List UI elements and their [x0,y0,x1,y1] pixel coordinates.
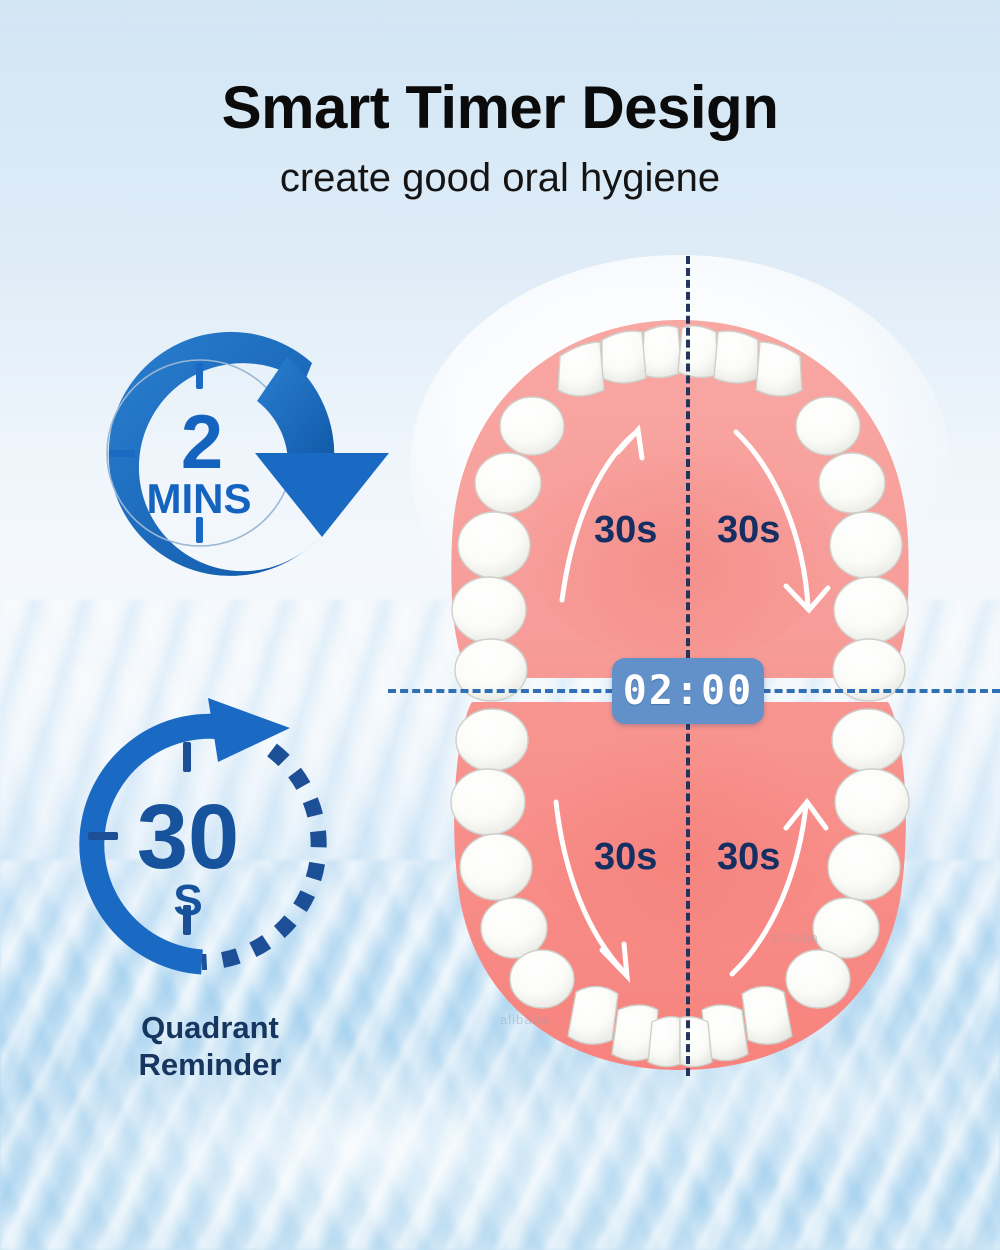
tooth-lower-left-molar-3 [456,709,528,771]
tooth-lower-right-molar-3 [832,709,904,771]
thirty-second-clock-icon: 30 S [40,690,380,1020]
tooth-lower-right-premolar-1 [786,950,850,1008]
clock-tick-9 [109,450,135,457]
tooth-upper-right-premolar-1 [796,397,860,455]
page-title: Smart Timer Design [0,78,1000,138]
quadrant-tick-9 [88,832,118,840]
tooth-lower-right-canine [742,986,792,1044]
infographic-canvas: Smart Timer Design create good oral hygi… [0,0,1000,1250]
tooth-lower-right-molar-1 [828,834,900,900]
thirty-s-value: 30 [137,786,239,888]
tooth-upper-left-molar-1 [458,512,530,578]
clock-tick-12 [196,363,203,389]
quadrant-label-upper-left: 30s [594,511,657,549]
clock-arrow-shaft [257,357,334,465]
upper-palate-shading [530,435,830,665]
timer-value: 02:00 [623,668,753,714]
two-mins-unit: MINS [147,475,252,522]
tooth-upper-left-lateral-incisor [602,331,646,383]
quadrant-label-lower-right: 30s [717,838,780,876]
quadrant-caption-line2: Reminder [30,1047,390,1084]
lower-tongue-shading [530,730,830,950]
watermark-text-1: alibaba [500,1012,549,1027]
tooth-lower-left-premolar-2 [481,898,547,958]
quadrant-tick-12 [183,742,191,772]
tooth-upper-right-central-incisor [678,326,718,378]
tooth-upper-left-molar-2 [452,577,526,643]
timer-display-badge: 02:00 [612,658,764,724]
tooth-lower-left-molar-1 [460,834,532,900]
tooth-upper-right-molar-2 [834,577,908,643]
tooth-upper-right-premolar-2 [819,453,885,513]
tooth-lower-left-premolar-1 [510,950,574,1008]
tooth-upper-right-molar-1 [830,512,902,578]
quadrant-label-upper-right: 30s [717,511,780,549]
tooth-upper-right-lateral-incisor [714,331,758,383]
quadrant-caption-line1: Quadrant [30,1010,390,1047]
tooth-lower-right-premolar-2 [813,898,879,958]
tooth-lower-left-canine [568,986,618,1044]
watermark-text-2: alibaba [770,930,819,945]
clock-arrow-head [255,453,389,537]
two-mins-value: 2 [181,400,223,485]
tooth-lower-right-central-incisor [680,1017,712,1067]
tooth-upper-left-premolar-1 [500,397,564,455]
page-subtitle: create good oral hygiene [0,158,1000,198]
tooth-upper-left-central-incisor [642,326,682,378]
two-minute-clock-icon: 2 MINS [52,305,402,625]
tooth-lower-left-molar-2 [451,769,525,835]
tooth-upper-left-premolar-2 [475,453,541,513]
thirty-s-unit: S [173,876,202,925]
tooth-lower-left-central-incisor [648,1017,680,1067]
quadrant-reminder-caption: Quadrant Reminder [30,1010,390,1083]
tooth-lower-right-molar-2 [835,769,909,835]
quadrant-label-lower-left: 30s [594,838,657,876]
